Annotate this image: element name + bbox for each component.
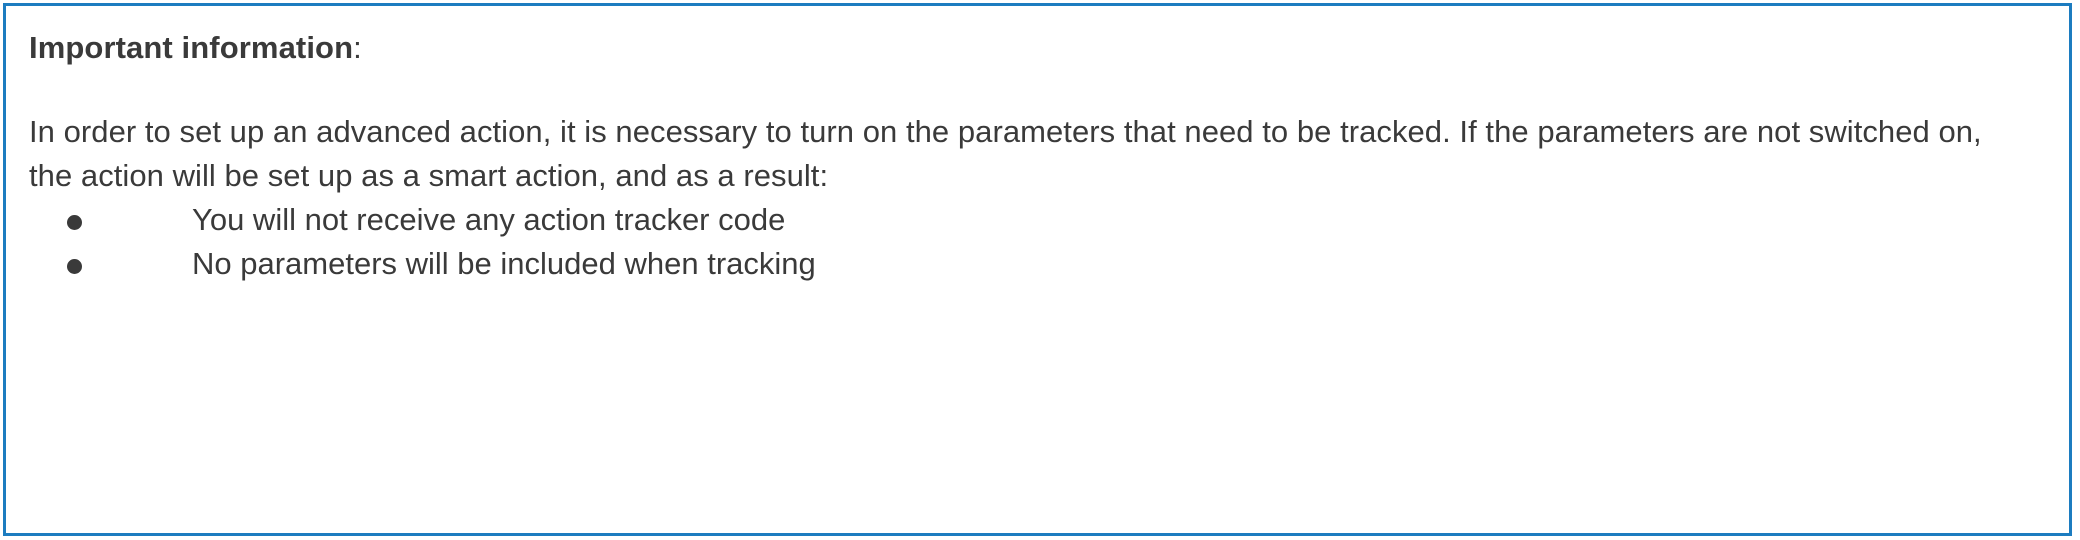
callout-content: Important information: In order to set u…: [6, 6, 2069, 286]
list-item-label: No parameters will be included when trac…: [192, 246, 816, 281]
heading-paragraph-spacer: [29, 68, 2045, 110]
callout-bullet-list: You will not receive any action tracker …: [29, 198, 2045, 286]
callout-heading-label: Important information: [29, 30, 353, 65]
important-information-callout: Important information: In order to set u…: [3, 3, 2072, 536]
list-item: No parameters will be included when trac…: [29, 242, 2045, 286]
callout-heading-colon: :: [353, 30, 362, 65]
list-item: You will not receive any action tracker …: [29, 198, 2045, 242]
bullet-dot-icon: [67, 242, 83, 286]
bullet-dot-icon: [67, 198, 83, 242]
list-item-label: You will not receive any action tracker …: [192, 202, 785, 237]
callout-paragraph: In order to set up an advanced action, i…: [29, 110, 1984, 198]
callout-heading: Important information:: [29, 28, 2045, 68]
